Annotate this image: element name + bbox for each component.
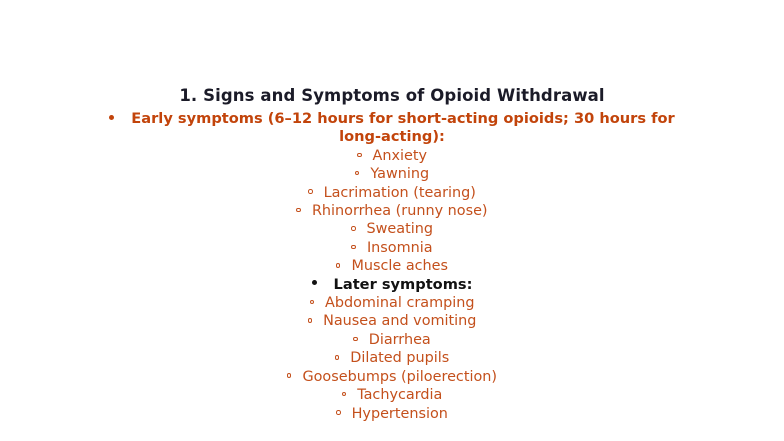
bullet-circle-icon (357, 153, 362, 158)
list-item: Sweating (0, 220, 784, 238)
list-item-label: Lacrimation (tearing) (324, 185, 476, 201)
list-item: Insomnia (0, 239, 784, 257)
list-item-label: Tachycardia (357, 387, 442, 403)
list-item-label: Yawning (370, 166, 429, 182)
bullet-dot-icon (109, 115, 114, 120)
list-item: Rhinorrhea (runny nose) (0, 202, 784, 220)
bullet-dot-icon (312, 280, 317, 285)
list-item: Muscle aches (0, 257, 784, 275)
bullet-early-symptoms-label: Early symptoms (6–12 hours for short-act… (131, 110, 674, 145)
list-item: Anxiety (0, 147, 784, 165)
list-item-label: Hypertension (352, 406, 448, 422)
bullet-circle-icon (308, 189, 313, 194)
list-item-label: Diarrhea (369, 332, 431, 348)
bullet-circle-icon (310, 300, 315, 305)
list-item-label: Nausea and vomiting (323, 313, 476, 329)
bullet-circle-icon (336, 263, 341, 268)
bullet-circle-icon (296, 208, 301, 213)
bullet-circle-icon (342, 392, 347, 397)
list-item: Goosebumps (piloerection) (0, 368, 784, 386)
list-item: Tachycardia (0, 386, 784, 404)
list-item: Abdominal cramping (0, 294, 784, 312)
list-item-label: Muscle aches (351, 258, 448, 274)
list-item-label: Sweating (367, 221, 433, 237)
bullet-circle-icon (351, 226, 356, 231)
list-item: Dilated pupils (0, 349, 784, 367)
list-item-label: Rhinorrhea (runny nose) (312, 203, 488, 219)
bullet-early-symptoms: Early symptoms (6–12 hours for short-act… (97, 110, 687, 147)
list-item: Lacrimation (tearing) (0, 184, 784, 202)
list-item-label: Dilated pupils (350, 350, 449, 366)
bullet-later-symptoms-label: Later symptoms: (334, 276, 473, 293)
bullet-circle-icon (335, 355, 340, 360)
list-item-label: Goosebumps (piloerection) (302, 369, 497, 385)
list-item-label: Anxiety (373, 148, 428, 164)
bullet-circle-icon (287, 373, 292, 378)
list-item: Diarrhea (0, 331, 784, 349)
early-symptom-list: Anxiety Yawning Lacrimation (tearing) Rh… (0, 147, 784, 276)
bullet-circle-icon (308, 318, 313, 323)
bullet-circle-icon (336, 410, 341, 415)
bullet-later-symptoms: Later symptoms: (92, 276, 692, 294)
page-title: 1. Signs and Symptoms of Opioid Withdraw… (0, 86, 784, 106)
list-item: Yawning (0, 165, 784, 183)
slide-canvas: 1. Signs and Symptoms of Opioid Withdraw… (0, 0, 784, 441)
bullet-circle-icon (353, 337, 358, 342)
list-item-label: Abdominal cramping (325, 295, 475, 311)
bullet-circle-icon (355, 171, 360, 176)
slide-content: 1. Signs and Symptoms of Opioid Withdraw… (0, 86, 784, 423)
list-item-label: Insomnia (367, 240, 433, 256)
list-item: Nausea and vomiting (0, 312, 784, 330)
later-symptom-list: Abdominal cramping Nausea and vomiting D… (0, 294, 784, 423)
list-item: Hypertension (0, 405, 784, 423)
bullet-circle-icon (351, 245, 356, 250)
